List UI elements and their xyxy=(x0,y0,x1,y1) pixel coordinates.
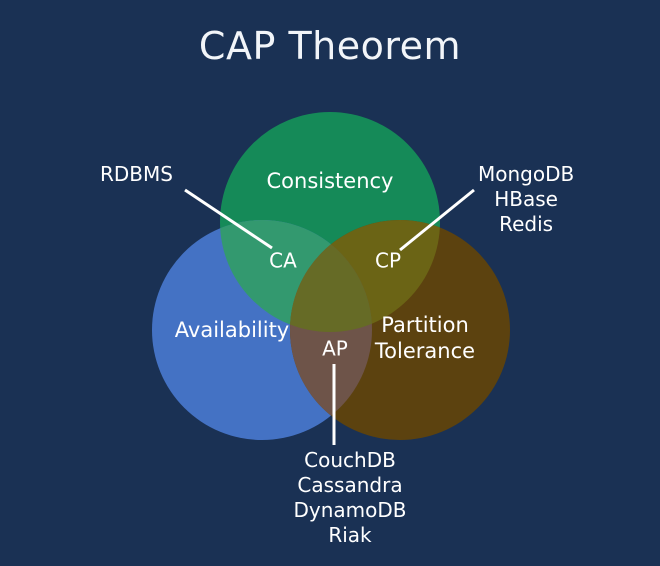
callout-cp-stores: MongoDB HBase Redis xyxy=(478,162,574,237)
label-partition-tolerance-line1: Partition xyxy=(381,313,469,337)
label-availability: Availability xyxy=(175,318,289,342)
label-intersection-ca: CA xyxy=(269,249,297,273)
callout-ap-stores: CouchDB Cassandra DynamoDB Riak xyxy=(250,448,450,548)
label-partition-tolerance-line2: Tolerance xyxy=(374,339,475,363)
label-intersection-cp: CP xyxy=(375,249,401,273)
label-intersection-ap: AP xyxy=(322,337,348,361)
cap-theorem-diagram: CAP Theorem Consistency Availability Par… xyxy=(0,0,660,566)
label-consistency: Consistency xyxy=(267,169,394,193)
callout-rdbms: RDBMS xyxy=(100,162,173,187)
